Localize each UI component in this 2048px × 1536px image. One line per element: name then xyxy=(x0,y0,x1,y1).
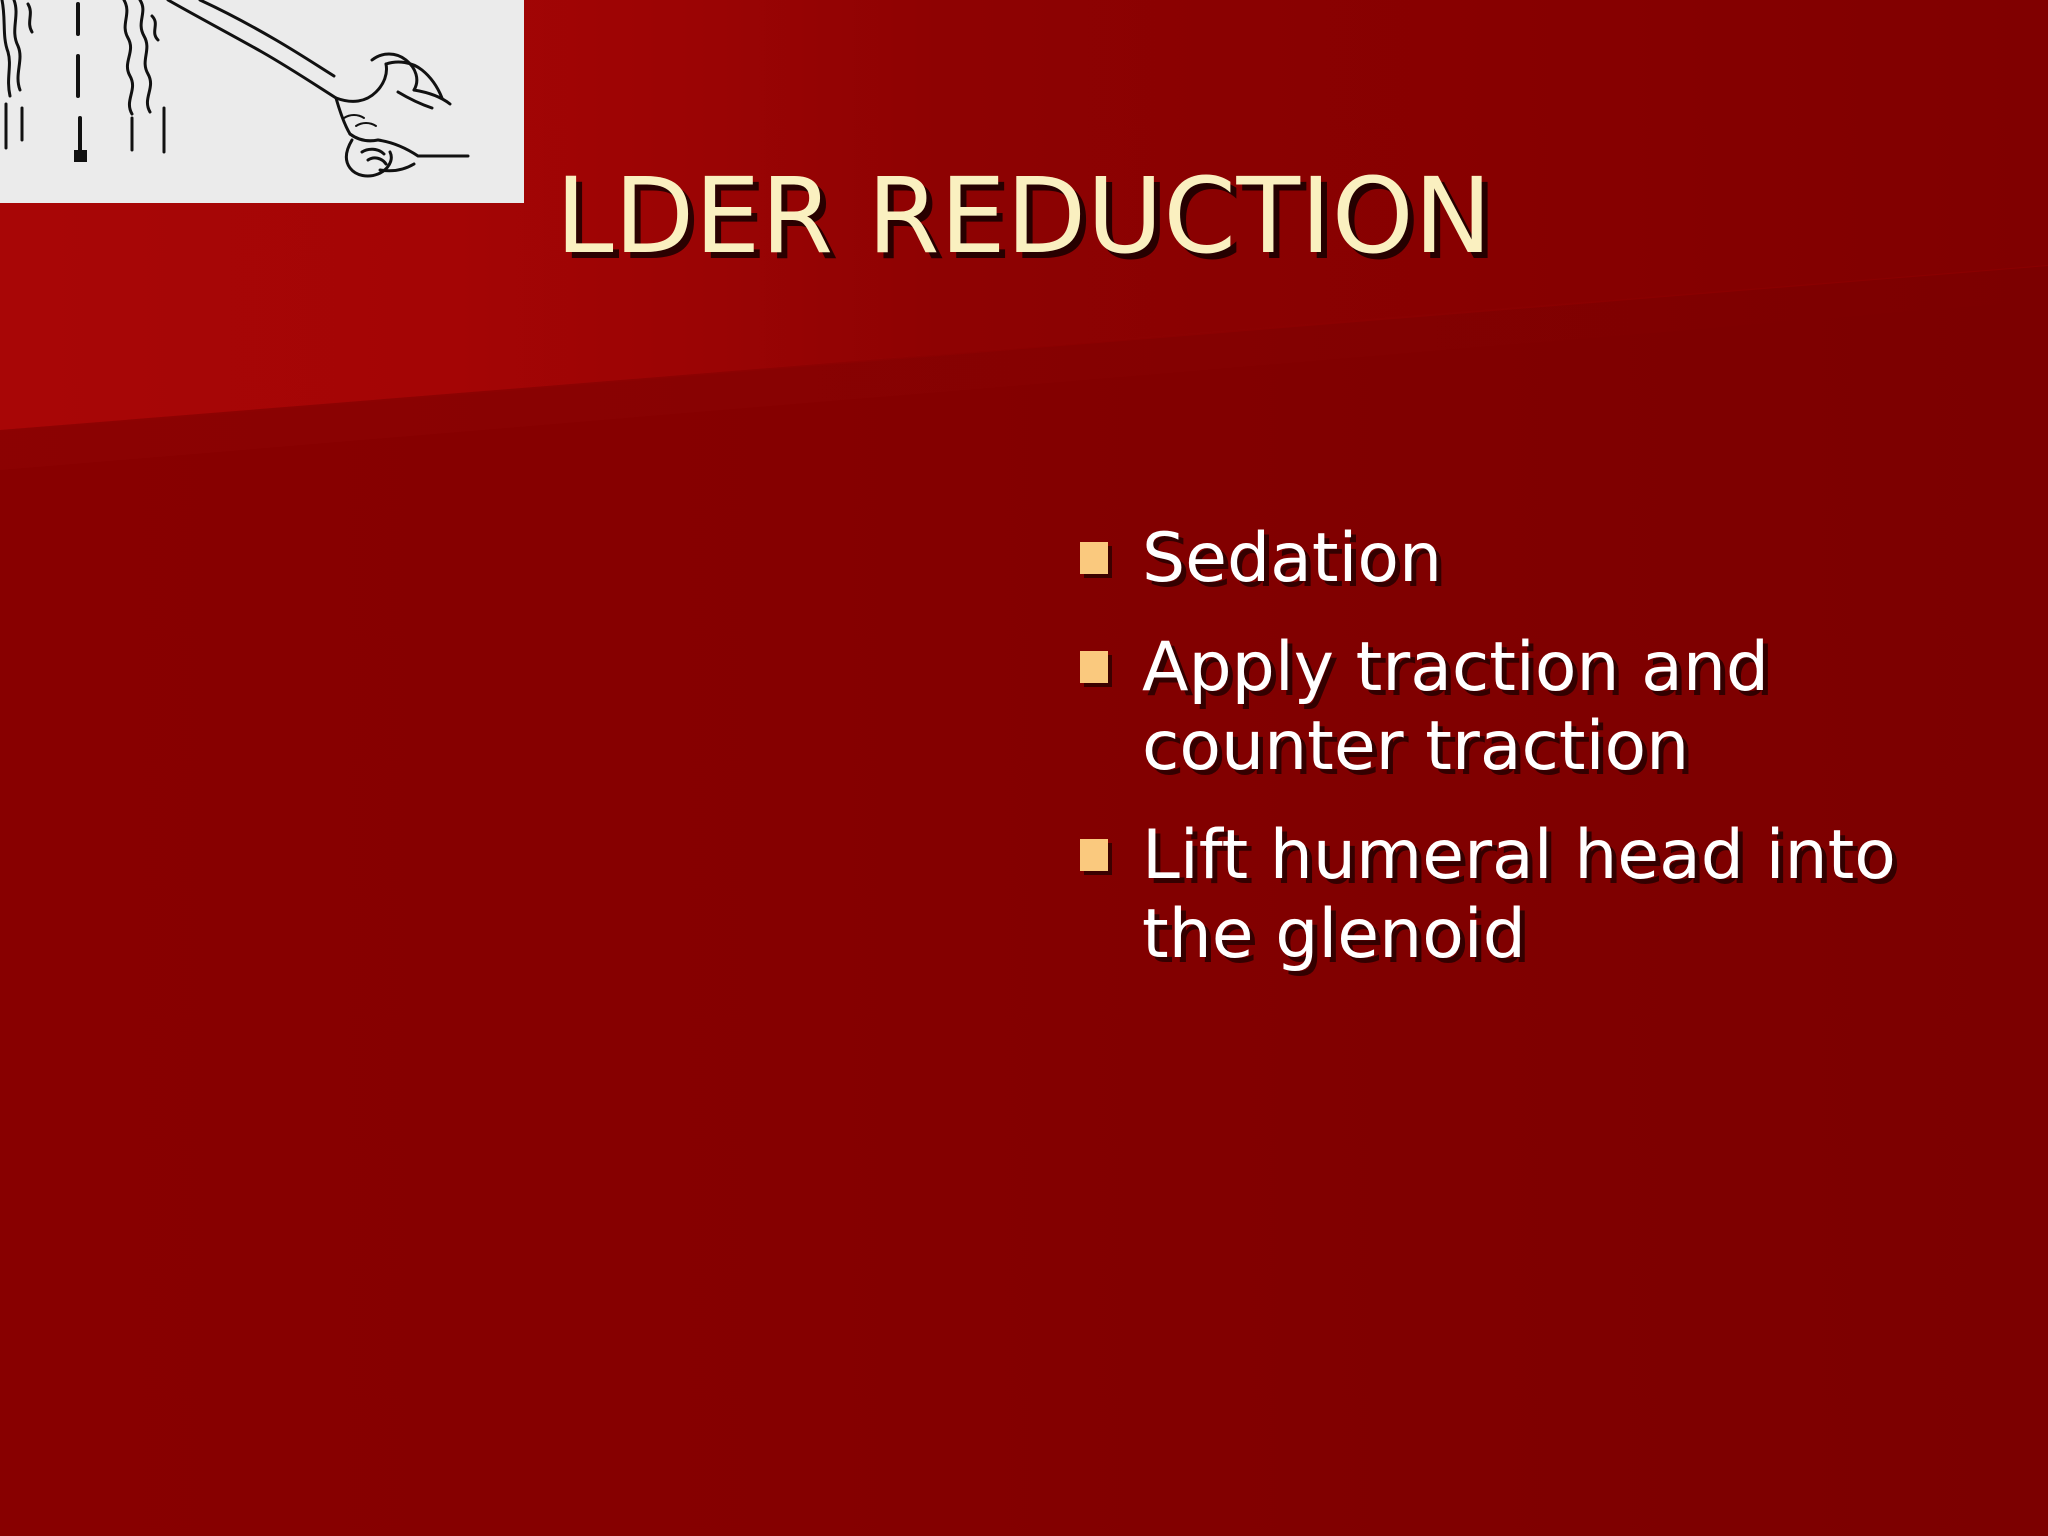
list-item-label: Sedation xyxy=(1142,520,1442,599)
square-bullet-icon xyxy=(1080,542,1108,574)
shoulder-traction-line-drawing-icon xyxy=(0,0,524,203)
square-bullet-icon xyxy=(1080,839,1108,871)
shoulder-traction-illustration xyxy=(0,0,524,203)
list-item: Lift humeral head into the glenoid xyxy=(1080,817,2000,975)
list-item-label: Apply traction and counter traction xyxy=(1142,629,2000,787)
list-item-label: Lift humeral head into the glenoid xyxy=(1142,817,2000,975)
presentation-slide: LDER REDUCTION xyxy=(0,0,2048,1536)
list-item: Apply traction and counter traction xyxy=(1080,629,2000,787)
square-bullet-icon xyxy=(1080,651,1108,683)
list-item: Sedation xyxy=(1080,520,2000,599)
bullet-list: Sedation Apply traction and counter trac… xyxy=(1080,520,2000,1004)
